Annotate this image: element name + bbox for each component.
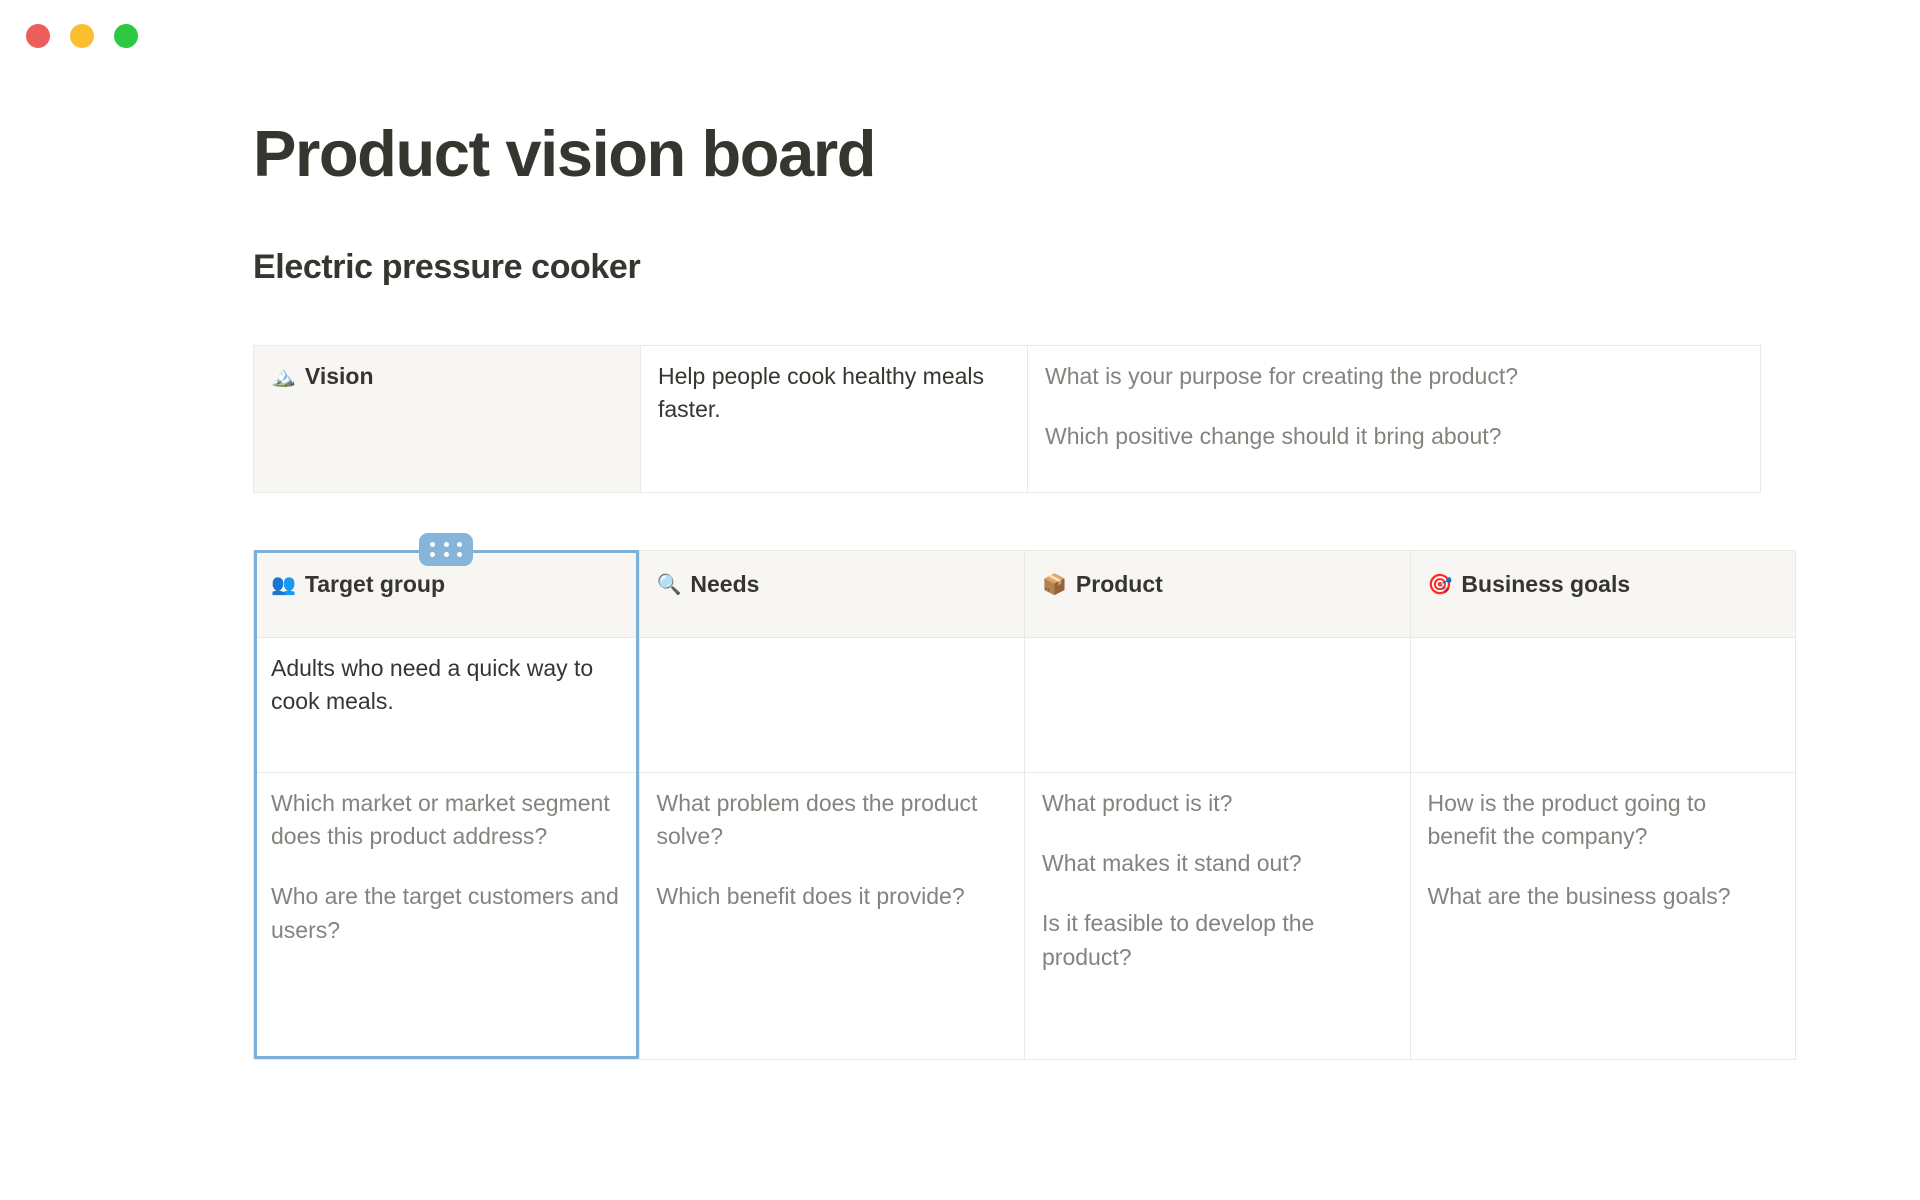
vision-hint-cell[interactable]: What is your purpose for creating the pr… xyxy=(1028,345,1761,492)
board-hint-product[interactable]: What product is it? What makes it stand … xyxy=(1025,772,1411,1059)
cell-hint: What are the business goals? xyxy=(1428,880,1779,913)
board-header-product[interactable]: 📦Product xyxy=(1025,550,1411,637)
table-row: Which market or market segment does this… xyxy=(254,772,1796,1059)
drag-dot xyxy=(444,552,449,557)
vision-value: Help people cook healthy meals faster. xyxy=(658,363,984,422)
page-title[interactable]: Product vision board xyxy=(253,118,1920,191)
busts-in-silhouette-icon: 👥 xyxy=(271,570,296,599)
board-value-product[interactable] xyxy=(1025,637,1411,772)
board-header-needs[interactable]: 🔍Needs xyxy=(639,550,1025,637)
board-header-label: Target group xyxy=(305,571,445,597)
close-button[interactable] xyxy=(26,24,50,48)
document-body: Product vision board Electric pressure c… xyxy=(0,72,1920,1060)
table-row: 🏔️Vision Help people cook healthy meals … xyxy=(254,345,1761,492)
board-hint-target-group[interactable]: Which market or market segment does this… xyxy=(254,772,640,1059)
cell-hint: What problem does the product solve? xyxy=(657,787,1008,854)
drag-dot xyxy=(457,542,462,547)
vision-hint-2: Which positive change should it bring ab… xyxy=(1045,420,1743,453)
direct-hit-target-icon: 🎯 xyxy=(1428,570,1453,599)
board-header-label: Needs xyxy=(690,571,759,597)
board-hint-needs[interactable]: What problem does the product solve? Whi… xyxy=(639,772,1025,1059)
board-value-needs[interactable] xyxy=(639,637,1025,772)
vision-board-table-wrapper: 👥Target group 🔍Needs 📦Product 🎯Business … xyxy=(253,550,1655,1060)
table-row: Adults who need a quick way to cook meal… xyxy=(254,637,1796,772)
vision-value-cell[interactable]: Help people cook healthy meals faster. xyxy=(641,345,1028,492)
minimize-button[interactable] xyxy=(70,24,94,48)
drag-dot xyxy=(430,552,435,557)
snow-capped-mountain-icon: 🏔️ xyxy=(271,362,296,391)
cell-hint: How is the product going to benefit the … xyxy=(1428,787,1779,854)
vision-board-table: 👥Target group 🔍Needs 📦Product 🎯Business … xyxy=(253,550,1796,1060)
vision-hint-1: What is your purpose for creating the pr… xyxy=(1045,360,1743,393)
cell-value: Adults who need a quick way to cook meal… xyxy=(271,655,593,714)
cell-hint: Which market or market segment does this… xyxy=(271,787,622,854)
table-header-row: 👥Target group 🔍Needs 📦Product 🎯Business … xyxy=(254,550,1796,637)
maximize-button[interactable] xyxy=(114,24,138,48)
vision-table: 🏔️Vision Help people cook healthy meals … xyxy=(253,345,1761,493)
column-drag-handle[interactable] xyxy=(419,533,473,566)
cell-hint: What makes it stand out? xyxy=(1042,847,1393,880)
cell-hint: Which benefit does it provide? xyxy=(657,880,1008,913)
magnifying-glass-icon: 🔍 xyxy=(657,570,682,599)
page-subtitle[interactable]: Electric pressure cooker xyxy=(253,247,1920,288)
board-header-label: Business goals xyxy=(1461,571,1630,597)
board-hint-business-goals[interactable]: How is the product going to benefit the … xyxy=(1410,772,1796,1059)
drag-dot xyxy=(457,552,462,557)
board-header-business-goals[interactable]: 🎯Business goals xyxy=(1410,550,1796,637)
cell-hint: Is it feasible to develop the product? xyxy=(1042,907,1393,974)
window-titlebar xyxy=(0,0,1920,72)
board-value-business-goals[interactable] xyxy=(1410,637,1796,772)
vision-label-cell[interactable]: 🏔️Vision xyxy=(254,345,641,492)
drag-dot xyxy=(444,542,449,547)
vision-label: Vision xyxy=(305,363,374,389)
cell-hint: What product is it? xyxy=(1042,787,1393,820)
drag-dot xyxy=(430,542,435,547)
board-header-label: Product xyxy=(1076,571,1163,597)
cell-hint: Who are the target customers and users? xyxy=(271,880,622,947)
board-value-target-group[interactable]: Adults who need a quick way to cook meal… xyxy=(254,637,640,772)
package-box-icon: 📦 xyxy=(1042,570,1067,599)
